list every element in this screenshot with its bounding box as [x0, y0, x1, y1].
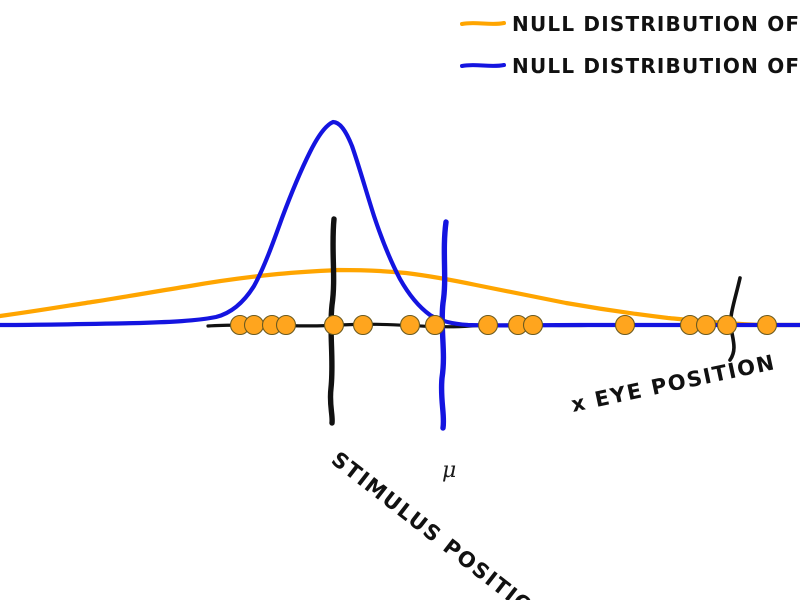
mu-label: μ — [442, 458, 456, 483]
eye-position-text: EYE POSITION — [584, 350, 778, 414]
list-item[interactable] — [354, 316, 373, 335]
legend-text-x: NULL DISTRIBUTION OF — [512, 12, 800, 36]
list-item[interactable] — [401, 316, 420, 335]
diagram-svg: NULL DISTRIBUTION OF x NULL DISTRIBUTION… — [0, 0, 800, 600]
legend-entry-null-distribution-x[interactable]: NULL DISTRIBUTION OF x — [462, 12, 800, 36]
stimulus-position-label: STIMULUS POSITION — [327, 447, 553, 600]
page-title: x EYE POSITION — [569, 350, 778, 417]
orange-line-swatch — [462, 23, 504, 24]
list-item[interactable] — [426, 316, 445, 335]
list-item[interactable] — [479, 316, 498, 335]
list-item[interactable] — [616, 316, 635, 335]
legend-label-null-distribution-x: NULL DISTRIBUTION OF x — [512, 12, 800, 36]
legend-entry-null-distribution-t[interactable]: NULL DISTRIBUTION OF t — [462, 54, 800, 78]
legend-text-t: NULL DISTRIBUTION OF — [512, 54, 800, 78]
legend-label-null-distribution-t: NULL DISTRIBUTION OF t — [512, 54, 800, 78]
axis-annotations: STIMULUS POSITION μ x EYE POSITION — [327, 350, 778, 600]
figure-canvas: NULL DISTRIBUTION OF x NULL DISTRIBUTION… — [0, 0, 800, 600]
list-item[interactable] — [277, 316, 296, 335]
list-item[interactable] — [697, 316, 716, 335]
list-item[interactable] — [758, 316, 777, 335]
list-item[interactable] — [524, 316, 543, 335]
list-item[interactable] — [245, 316, 264, 335]
list-item[interactable] — [718, 316, 737, 335]
list-item[interactable] — [325, 316, 344, 335]
legend: NULL DISTRIBUTION OF x NULL DISTRIBUTION… — [462, 12, 800, 78]
blue-line-swatch — [462, 65, 504, 66]
null-distribution-t-curve-group — [0, 122, 800, 325]
null-distribution-t-curve — [0, 122, 800, 325]
